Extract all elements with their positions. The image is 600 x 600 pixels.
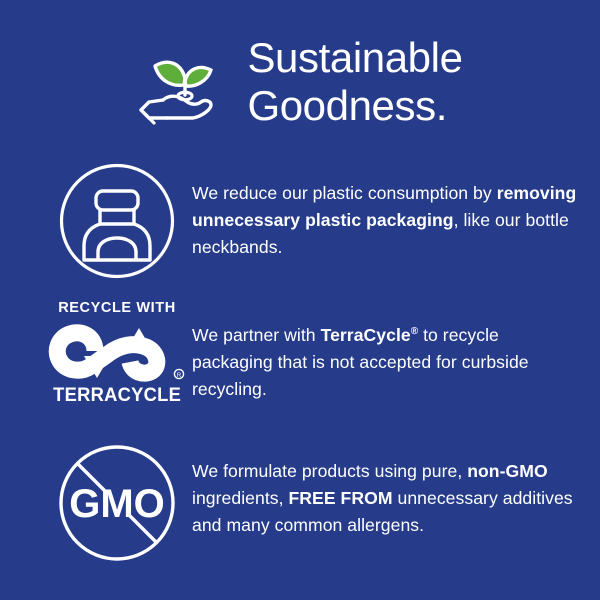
feature-icon-cell: RECYCLE WITH R TERRACYCLE (42, 296, 192, 406)
list-item: GMO We formulate products using pure, no… (0, 438, 600, 588)
terracycle-bottom-label: TERRACYCLE (53, 385, 181, 406)
gmo-icon-label: GMO (69, 482, 165, 526)
feature-text-part-bold: FREE FROM (289, 488, 393, 508)
feature-icon-cell: GMO (42, 438, 192, 564)
terracycle-logo-icon: RECYCLE WITH R TERRACYCLE (46, 300, 188, 406)
feature-text-part: We reduce our plastic consumption by (192, 183, 497, 203)
bottle-neckband-icon (58, 162, 176, 280)
feature-list: We reduce our plastic consumption by rem… (0, 158, 600, 588)
feature-text-part: We partner with (192, 325, 321, 345)
sustainable-goodness-infographic: { "background_color": "#263C8B", "text_c… (0, 0, 600, 600)
page-title: Sustainable Goodness. (247, 34, 462, 130)
header: Sustainable Goodness. (0, 26, 600, 138)
feature-text: We partner with TerraCycle® to recycle p… (192, 296, 582, 403)
list-item: RECYCLE WITH R TERRACYCLE (0, 296, 600, 438)
list-item: We reduce our plastic consumption by rem… (0, 158, 600, 296)
feature-text-part: We formulate products using pure, (192, 461, 467, 481)
infinity-arrows-icon: R (48, 320, 186, 382)
svg-text:R: R (177, 373, 182, 379)
feature-text: We formulate products using pure, non-GM… (192, 438, 582, 539)
feature-icon-cell (42, 158, 192, 280)
feature-text-part: ingredients, (192, 488, 289, 508)
hand-holding-sprout-icon (137, 38, 233, 130)
feature-text: We reduce our plastic consumption by rem… (192, 158, 582, 261)
feature-text-part-bold: non-GMO (467, 461, 547, 481)
terracycle-top-label: RECYCLE WITH (58, 300, 176, 316)
no-gmo-icon: GMO (56, 442, 178, 564)
feature-text-part-bold: TerraCycle (321, 325, 411, 345)
